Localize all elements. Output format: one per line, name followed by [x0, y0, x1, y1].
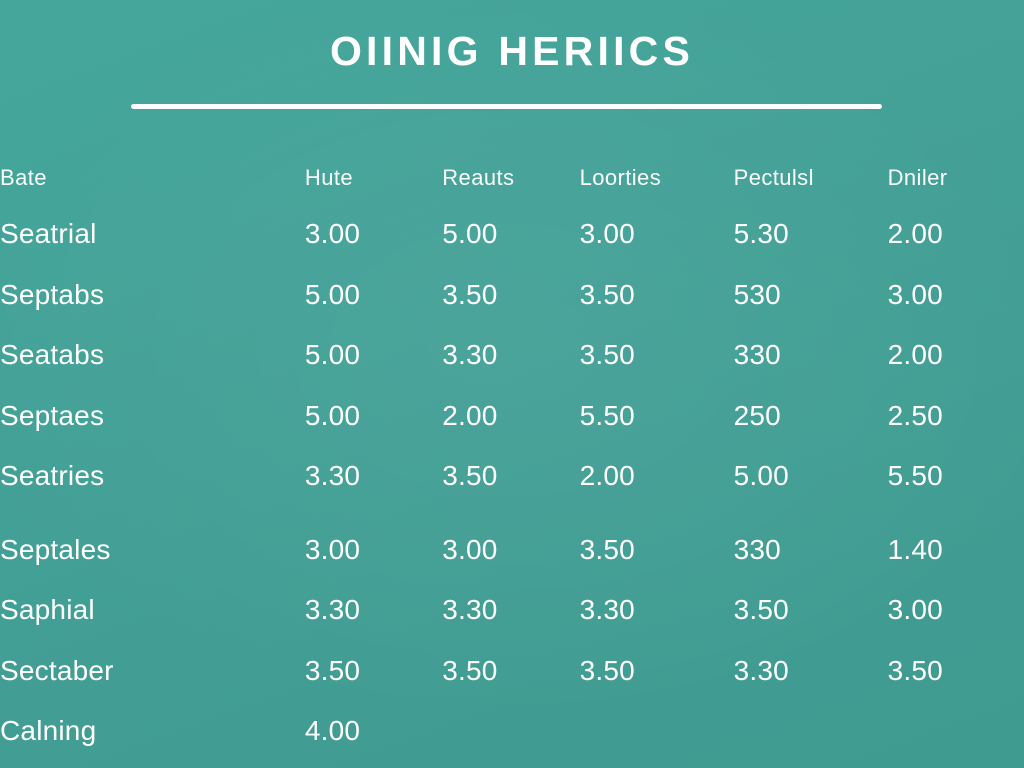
row-value-5: 1.40 — [888, 507, 1024, 581]
row-label: Seatrial — [0, 204, 305, 265]
row-value-3: 3.50 — [580, 507, 734, 581]
table-header: Bate Hute Reauts Loorties Pectulsl Dnile… — [0, 152, 1024, 204]
row-value-1: 5.00 — [305, 386, 442, 447]
table-body: Seatrial 3.00 5.00 3.00 5.30 2.00 Septab… — [0, 204, 1024, 762]
row-value-4: 250 — [734, 386, 888, 447]
table-row: Septabs 5.00 3.50 3.50 530 3.00 — [0, 265, 1024, 326]
table-row: Calning 4.00 — [0, 701, 1024, 762]
column-header-0: Bate — [0, 152, 305, 204]
table-row: Septales 3.00 3.00 3.50 330 1.40 — [0, 507, 1024, 581]
row-value-2: 3.50 — [442, 446, 579, 507]
row-value-5 — [888, 701, 1024, 762]
row-value-2: 3.50 — [442, 265, 579, 326]
table-row: Seatabs 5.00 3.30 3.50 330 2.00 — [0, 325, 1024, 386]
row-value-1: 5.00 — [305, 265, 442, 326]
column-header-3: Loorties — [580, 152, 734, 204]
row-value-3: 5.50 — [580, 386, 734, 447]
row-value-5: 3.00 — [888, 580, 1024, 641]
metrics-table: Bate Hute Reauts Loorties Pectulsl Dnile… — [0, 152, 1024, 762]
row-value-3: 2.00 — [580, 446, 734, 507]
table-row: Seatries 3.30 3.50 2.00 5.00 5.50 — [0, 446, 1024, 507]
row-value-5: 3.50 — [888, 641, 1024, 702]
header-row: Bate Hute Reauts Loorties Pectulsl Dnile… — [0, 152, 1024, 204]
table-card: OIINIG HERIICS Bate Hute Reauts Loorties… — [0, 0, 1024, 768]
page-title: OIINIG HERIICS — [330, 30, 694, 73]
row-value-2: 3.50 — [442, 641, 579, 702]
row-value-4: 3.50 — [734, 580, 888, 641]
row-value-5: 2.50 — [888, 386, 1024, 447]
row-label: Seatabs — [0, 325, 305, 386]
row-value-2: 2.00 — [442, 386, 579, 447]
row-value-3: 3.00 — [580, 204, 734, 265]
row-value-3 — [580, 701, 734, 762]
row-value-2: 3.30 — [442, 580, 579, 641]
column-header-4: Pectulsl — [734, 152, 888, 204]
row-value-5: 2.00 — [888, 204, 1024, 265]
title-divider — [131, 104, 882, 109]
column-header-2: Reauts — [442, 152, 579, 204]
row-value-5: 2.00 — [888, 325, 1024, 386]
row-value-1: 3.00 — [305, 507, 442, 581]
row-value-5: 3.00 — [888, 265, 1024, 326]
row-value-1: 3.30 — [305, 446, 442, 507]
table-row: Seatrial 3.00 5.00 3.00 5.30 2.00 — [0, 204, 1024, 265]
row-value-4: 330 — [734, 507, 888, 581]
row-value-1: 3.00 — [305, 204, 442, 265]
row-value-2: 3.30 — [442, 325, 579, 386]
row-value-4: 3.30 — [734, 641, 888, 702]
row-label: Seatries — [0, 446, 305, 507]
row-value-4 — [734, 701, 888, 762]
row-value-4: 5.00 — [734, 446, 888, 507]
title-container: OIINIG HERIICS — [0, 30, 1024, 73]
row-label: Calning — [0, 701, 305, 762]
row-value-2: 5.00 — [442, 204, 579, 265]
table-row: Septaes 5.00 2.00 5.50 250 2.50 — [0, 386, 1024, 447]
column-header-5: Dniler — [888, 152, 1024, 204]
table-row: Saphial 3.30 3.30 3.30 3.50 3.00 — [0, 580, 1024, 641]
row-value-5: 5.50 — [888, 446, 1024, 507]
row-label: Saphial — [0, 580, 305, 641]
row-value-3: 3.50 — [580, 325, 734, 386]
row-value-3: 3.50 — [580, 265, 734, 326]
row-value-4: 330 — [734, 325, 888, 386]
row-value-3: 3.30 — [580, 580, 734, 641]
row-value-1: 3.50 — [305, 641, 442, 702]
row-value-3: 3.50 — [580, 641, 734, 702]
row-label: Septabs — [0, 265, 305, 326]
row-value-2 — [442, 701, 579, 762]
row-label: Sectaber — [0, 641, 305, 702]
row-label: Septaes — [0, 386, 305, 447]
row-value-4: 530 — [734, 265, 888, 326]
table-row: Sectaber 3.50 3.50 3.50 3.30 3.50 — [0, 641, 1024, 702]
row-label: Septales — [0, 507, 305, 581]
row-value-2: 3.00 — [442, 507, 579, 581]
row-value-1: 5.00 — [305, 325, 442, 386]
row-value-4: 5.30 — [734, 204, 888, 265]
row-value-1: 3.30 — [305, 580, 442, 641]
row-value-1: 4.00 — [305, 701, 442, 762]
column-header-1: Hute — [305, 152, 442, 204]
